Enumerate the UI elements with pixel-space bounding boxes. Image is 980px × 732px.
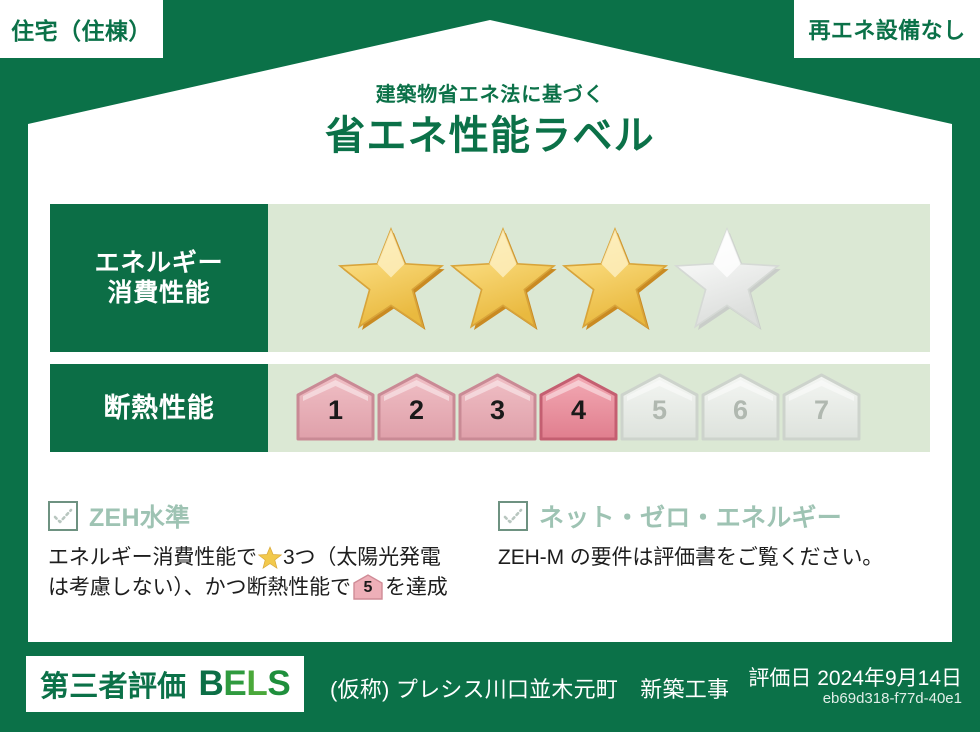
badge-building-type: 住宅（住棟）: [0, 0, 163, 58]
inline-insulation-chip-icon: 5: [353, 574, 383, 600]
energy-performance-label-line1: エネルギー: [95, 248, 224, 279]
criteria-nze-body: ZEH-M の要件は評価書をご覧ください。: [498, 543, 938, 573]
energy-performance-row: エネルギー 消費性能: [50, 204, 930, 352]
inline-star-icon: [258, 546, 282, 569]
insulation-level-chip: 4: [539, 373, 618, 443]
criteria-zeh: ZEH水準 エネルギー消費性能で 3つ（太陽光発電 は考慮しない）、かつ断熱性能…: [48, 498, 478, 604]
criteria-zeh-title: ZEH水準: [89, 498, 190, 534]
footer-bar: 第三者評価 BELS (仮称) プレシス川口並木元町 新築工事 評価日 2024…: [0, 642, 980, 732]
criteria-net-zero-energy: ネット・ゼロ・エネルギー ZEH-M の要件は評価書をご覧ください。: [498, 498, 938, 573]
criteria-nze-title: ネット・ゼロ・エネルギー: [539, 498, 842, 534]
criteria-zeh-body-post: 3つ（太陽光発電: [283, 546, 441, 569]
insulation-level-number: 7: [782, 395, 861, 426]
star-filled-icon: [560, 226, 670, 330]
criteria-zeh-body-pre: エネルギー消費性能で: [48, 546, 257, 569]
header-title-block: 建築物省エネ法に基づく 省エネ性能ラベル: [0, 84, 980, 158]
insulation-level-chip: 5: [620, 373, 699, 443]
insulation-level-number: 1: [296, 395, 375, 426]
badge-renewable-energy-label: 再エネ設備なし: [808, 13, 965, 45]
energy-star-rating: [268, 204, 930, 352]
zeh-checkbox-icon[interactable]: [48, 501, 78, 531]
bels-logo-letter: B: [198, 664, 223, 703]
energy-performance-label: エネルギー 消費性能: [50, 204, 268, 352]
inline-insulation-chip-number: 5: [353, 574, 383, 600]
insulation-level-number: 5: [620, 395, 699, 426]
badge-building-type-label: 住宅（住棟）: [11, 12, 152, 46]
bels-logo: BELS: [198, 664, 290, 704]
insulation-level-number: 4: [539, 395, 618, 426]
criteria-nze-header: ネット・ゼロ・エネルギー: [498, 498, 938, 534]
insulation-level-number: 3: [458, 395, 537, 426]
building-name: (仮称) プレシス川口並木元町 新築工事: [330, 672, 729, 704]
criteria-zeh-header: ZEH水準: [48, 498, 478, 534]
insulation-level-chip: 6: [701, 373, 780, 443]
bels-logo-letter: E: [223, 664, 246, 703]
star-empty-icon: [672, 226, 782, 330]
criteria-zeh-body-line2-post: を達成: [385, 576, 448, 599]
bels-jp-label: 第三者評価: [40, 663, 186, 705]
criteria-zeh-body: エネルギー消費性能で 3つ（太陽光発電 は考慮しない）、かつ断熱性能で 5を達成: [48, 543, 478, 604]
insulation-level-scale: 1234567: [268, 364, 930, 452]
star-filled-icon: [448, 226, 558, 330]
insulation-level-chip: 7: [782, 373, 861, 443]
insulation-level-number: 2: [377, 395, 456, 426]
insulation-performance-label-text: 断熱性能: [103, 392, 214, 425]
bels-logo-letter: S: [267, 664, 290, 703]
insulation-level-chip: 1: [296, 373, 375, 443]
insulation-level-chip: 3: [458, 373, 537, 443]
bels-energy-label: 住宅（住棟） 再エネ設備なし 建築物省エネ法に基づく 省エネ性能ラベル エネルギ…: [0, 0, 980, 732]
star-filled-icon: [336, 226, 446, 330]
bels-logo-letter: L: [246, 664, 267, 703]
evaluation-date: 評価日 2024年9月14日: [748, 662, 962, 692]
badge-renewable-energy: 再エネ設備なし: [794, 0, 980, 58]
insulation-performance-row: 断熱性能 1234567: [50, 364, 930, 452]
insulation-performance-label: 断熱性能: [50, 364, 268, 452]
evaluation-id: eb69d318-f77d-40e1: [823, 690, 962, 707]
nze-checkbox-icon[interactable]: [498, 501, 528, 531]
insulation-level-chip: 2: [377, 373, 456, 443]
header-subtitle: 建築物省エネ法に基づく: [0, 84, 980, 106]
criteria-zeh-body-line2-pre: は考慮しない）、かつ断熱性能で: [48, 576, 351, 599]
energy-performance-label-line2: 消費性能: [107, 278, 210, 309]
bels-certification-plate: 第三者評価 BELS: [26, 656, 304, 712]
page-title: 省エネ性能ラベル: [0, 114, 980, 158]
insulation-level-number: 6: [701, 395, 780, 426]
